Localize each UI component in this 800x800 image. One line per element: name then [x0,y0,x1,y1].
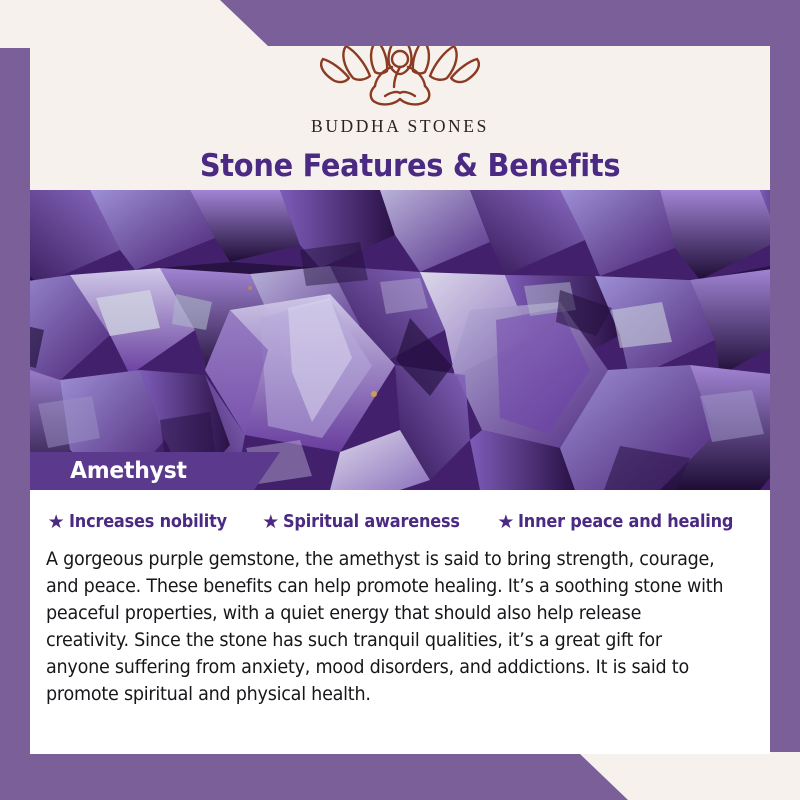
stone-name-tag: Amethyst [30,452,280,490]
benefit-item: ★ Inner peace and healing [497,512,752,532]
stone-name-text: Amethyst [34,458,187,484]
hero-image [0,190,800,490]
frame-right-bar [770,0,800,800]
brand-name: BUDDHA STONES [0,116,800,137]
benefit-label: Inner peace and healing [518,512,733,532]
benefit-item: ★ Increases nobility [48,512,241,532]
stone-description: A gorgeous purple gemstone, the amethyst… [46,546,724,708]
page-title-text: Stone Features & Benefits [200,148,620,184]
page-title: Stone Features & Benefits [150,142,670,190]
benefit-label: Increases nobility [69,512,227,532]
amethyst-crystal-cluster-photo [0,190,800,490]
frame-bottom-bar [0,754,800,800]
star-icon: ★ [48,513,65,532]
benefit-label: Spiritual awareness [283,512,460,532]
star-icon: ★ [497,513,514,532]
frame-left-bar [0,48,30,800]
star-icon: ★ [262,513,279,532]
benefits-list: ★ Increases nobility ★ Spiritual awarene… [40,512,760,532]
content-panel: ★ Increases nobility ★ Spiritual awarene… [30,490,770,754]
benefit-item: ★ Spiritual awareness [262,512,475,532]
poster-card: BUDDHA STONES Stone Features & Benefits [0,0,800,800]
